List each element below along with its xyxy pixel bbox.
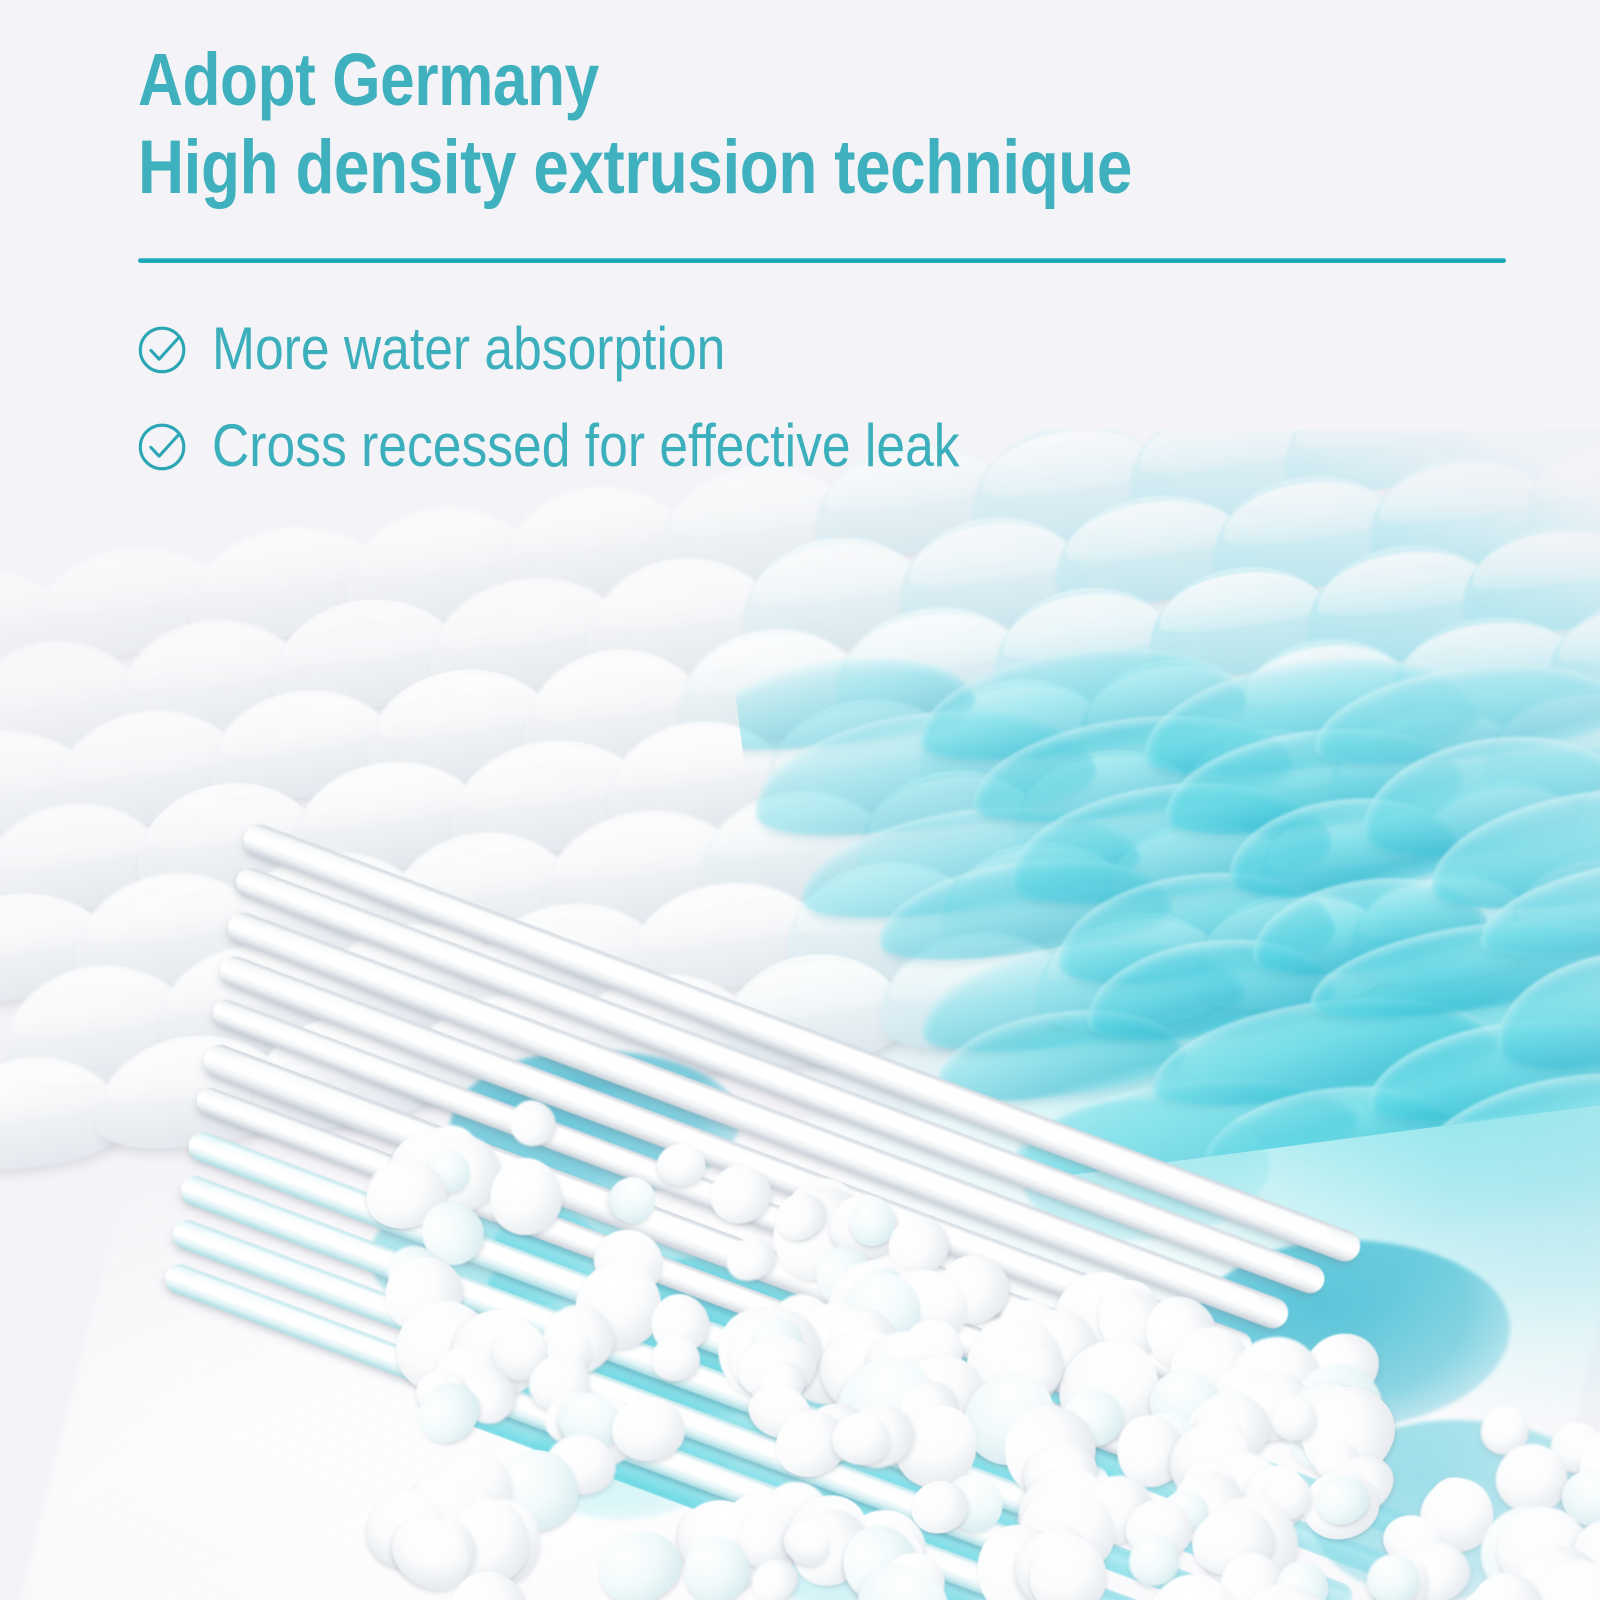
headline-line-1: Adopt Germany: [138, 36, 1314, 124]
headline-line-2: High density extrusion technique: [138, 124, 1314, 212]
title-divider-rule: [138, 258, 1506, 263]
product-cutaway-illustration: [0, 430, 1600, 1600]
feature-label: More water absorption: [212, 317, 725, 381]
product-feature-banner: Adopt Germany High density extrusion tec…: [0, 0, 1600, 1600]
check-circle-icon: [134, 320, 192, 378]
feature-list: More water absorption Cross recessed for…: [134, 312, 1081, 506]
page-title: Adopt Germany High density extrusion tec…: [138, 36, 1538, 212]
list-item: Cross recessed for effective leak: [134, 409, 1081, 483]
feature-label: Cross recessed for effective leak: [212, 414, 960, 478]
list-item: More water absorption: [134, 312, 1081, 386]
check-circle-icon: [134, 417, 192, 475]
